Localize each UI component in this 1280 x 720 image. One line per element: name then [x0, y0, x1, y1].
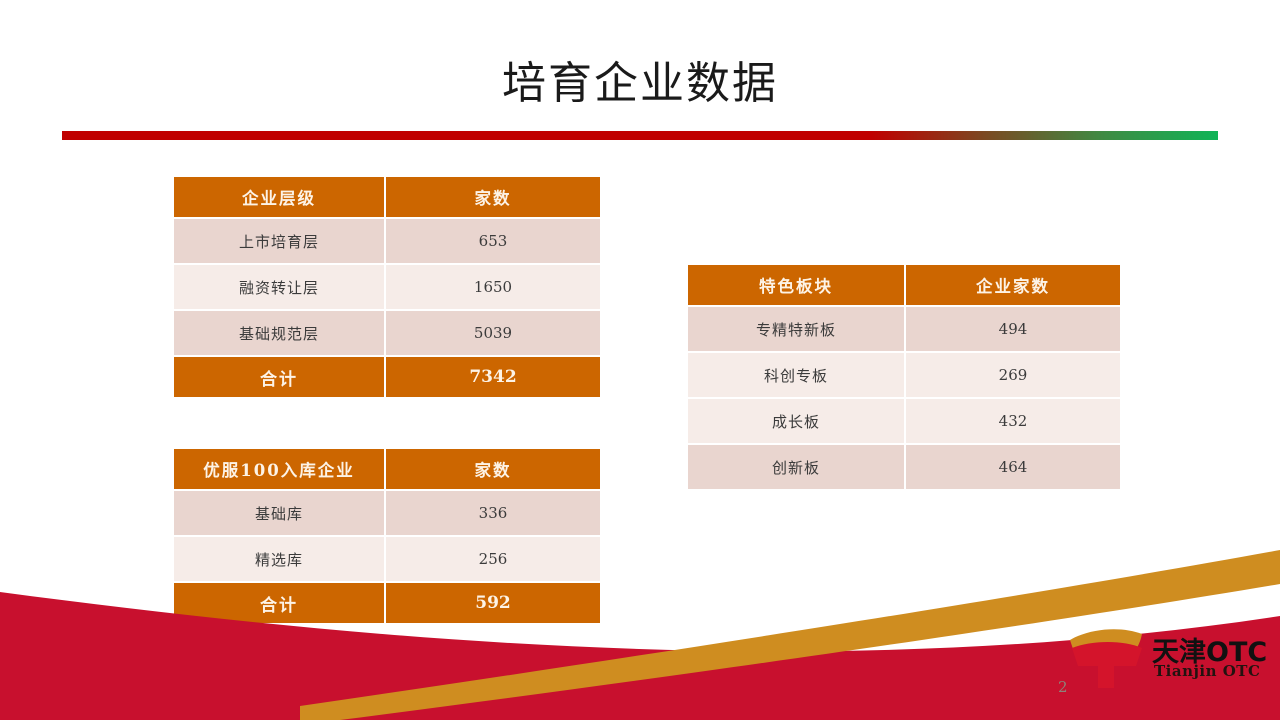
table-row: 科创专板 269	[688, 353, 1120, 397]
column-header-pool: 优服100入库企业	[174, 449, 384, 489]
column-header-board: 特色板块	[688, 265, 904, 305]
table-header-row: 企业层级 家数	[174, 177, 600, 217]
cell-level-value: 653	[386, 219, 600, 263]
table-row: 专精特新板 494	[688, 307, 1120, 351]
table-row: 创新板 464	[688, 445, 1120, 489]
tianjin-otc-logo-mark	[1062, 622, 1152, 692]
logo-red-mark	[1072, 642, 1142, 688]
page-number: 2	[1058, 678, 1068, 696]
cell-board-label: 创新板	[688, 445, 904, 489]
cell-level-label: 上市培育层	[174, 219, 384, 263]
cell-level-value: 1650	[386, 265, 600, 309]
cell-level-value: 5039	[386, 311, 600, 355]
table-row: 基础规范层 5039	[174, 311, 600, 355]
total-label: 合计	[174, 357, 384, 397]
total-value: 7342	[386, 357, 600, 397]
column-header-level: 企业层级	[174, 177, 384, 217]
logo: 天津OTC Tianjin OTC	[1062, 618, 1280, 694]
cell-board-value: 494	[906, 307, 1120, 351]
cell-board-value: 464	[906, 445, 1120, 489]
cell-board-label: 科创专板	[688, 353, 904, 397]
column-header-count: 家数	[386, 177, 600, 217]
page-title: 培育企业数据	[0, 58, 1280, 111]
cell-board-value: 269	[906, 353, 1120, 397]
table-header-row: 优服100入库企业 家数	[174, 449, 600, 489]
table-enterprise-levels: 企业层级 家数 上市培育层 653 融资转让层 1650 基础规范层 5039 …	[172, 175, 602, 399]
table-total-row: 合计 7342	[174, 357, 600, 397]
cell-board-label: 成长板	[688, 399, 904, 443]
title-divider-bar	[62, 131, 1218, 140]
table-row: 上市培育层 653	[174, 219, 600, 263]
column-header-company-count: 企业家数	[906, 265, 1120, 305]
cell-level-label: 基础规范层	[174, 311, 384, 355]
column-header-count: 家数	[386, 449, 600, 489]
cell-board-label: 专精特新板	[688, 307, 904, 351]
table-featured-boards: 特色板块 企业家数 专精特新板 494 科创专板 269 成长板 432 创新板…	[686, 263, 1122, 491]
slide-canvas: 培育企业数据 企业层级 家数 上市培育层 653 融资转让层 1650 基础规范…	[0, 0, 1280, 720]
cell-board-value: 432	[906, 399, 1120, 443]
table-row: 融资转让层 1650	[174, 265, 600, 309]
table-row: 成长板 432	[688, 399, 1120, 443]
table-header-row: 特色板块 企业家数	[688, 265, 1120, 305]
cell-level-label: 融资转让层	[174, 265, 384, 309]
logo-name-en: Tianjin OTC	[1154, 662, 1260, 680]
